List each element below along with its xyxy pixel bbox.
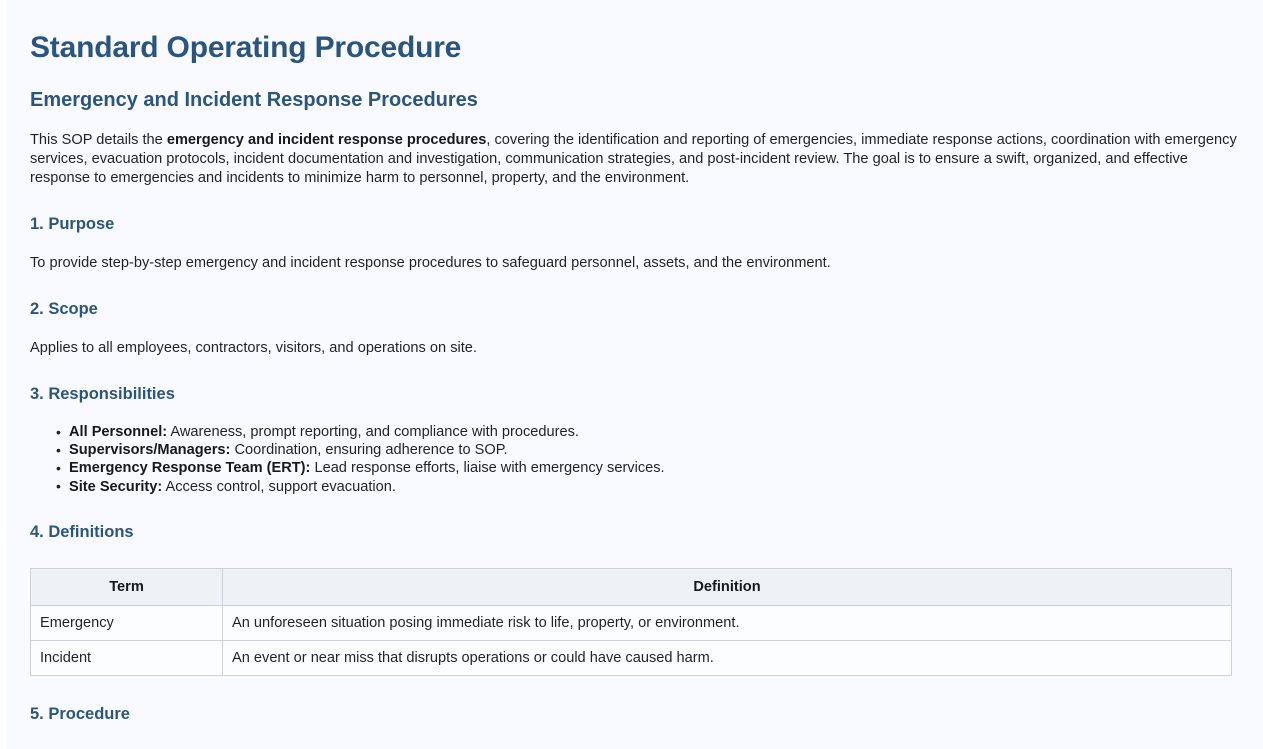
section-body-purpose: To provide step-by-step emergency and in… bbox=[30, 234, 1240, 273]
document-page: Standard Operating Procedure Emergency a… bbox=[7, 0, 1263, 749]
section-heading-procedure: 5. Procedure bbox=[30, 676, 1240, 724]
responsibility-detail: Lead response efforts, liaise with emerg… bbox=[310, 460, 664, 476]
list-item: Site Security: Access control, support e… bbox=[69, 478, 1240, 496]
column-header-term: Term bbox=[31, 568, 223, 605]
document-subtitle: Emergency and Incident Response Procedur… bbox=[30, 66, 1240, 112]
responsibility-role: Emergency Response Team (ERT): bbox=[69, 460, 310, 476]
column-header-definition: Definition bbox=[223, 568, 1232, 605]
definitions-table-body: Emergency An unforeseen situation posing… bbox=[31, 605, 1232, 675]
responsibility-role: Site Security: bbox=[69, 479, 162, 495]
table-row: Incident An event or near miss that disr… bbox=[31, 640, 1232, 675]
section-heading-purpose: 1. Purpose bbox=[30, 188, 1240, 234]
section-heading-responsibilities: 3. Responsibilities bbox=[30, 358, 1240, 404]
section-heading-definitions: 4. Definitions bbox=[30, 496, 1240, 542]
cell-definition: An event or near miss that disrupts oper… bbox=[223, 640, 1232, 675]
responsibility-detail: Awareness, prompt reporting, and complia… bbox=[167, 424, 579, 440]
responsibility-detail: Access control, support evacuation. bbox=[162, 479, 396, 495]
table-header-row: Term Definition bbox=[31, 568, 1232, 605]
list-item: Emergency Response Team (ERT): Lead resp… bbox=[69, 459, 1240, 477]
section-heading-scope: 2. Scope bbox=[30, 273, 1240, 319]
responsibility-role: All Personnel: bbox=[69, 424, 167, 440]
page-title: Standard Operating Procedure bbox=[30, 0, 1240, 66]
definitions-table-head: Term Definition bbox=[31, 568, 1232, 605]
responsibility-detail: Coordination, ensuring adherence to SOP. bbox=[230, 442, 507, 458]
intro-paragraph: This SOP details the emergency and incid… bbox=[30, 112, 1240, 188]
list-item: All Personnel: Awareness, prompt reporti… bbox=[69, 423, 1240, 441]
cell-term: Incident bbox=[31, 640, 223, 675]
document-content: Standard Operating Procedure Emergency a… bbox=[7, 0, 1263, 724]
table-row: Emergency An unforeseen situation posing… bbox=[31, 605, 1232, 640]
cell-definition: An unforeseen situation posing immediate… bbox=[223, 605, 1232, 640]
definitions-table: Term Definition Emergency An unforeseen … bbox=[30, 568, 1232, 676]
cell-term: Emergency bbox=[31, 605, 223, 640]
responsibilities-list: All Personnel: Awareness, prompt reporti… bbox=[30, 404, 1240, 496]
responsibility-role: Supervisors/Managers: bbox=[69, 442, 230, 458]
list-item: Supervisors/Managers: Coordination, ensu… bbox=[69, 441, 1240, 459]
intro-text-before: This SOP details the bbox=[30, 132, 167, 148]
intro-text-bold: emergency and incident response procedur… bbox=[167, 132, 487, 148]
section-body-scope: Applies to all employees, contractors, v… bbox=[30, 319, 1240, 358]
